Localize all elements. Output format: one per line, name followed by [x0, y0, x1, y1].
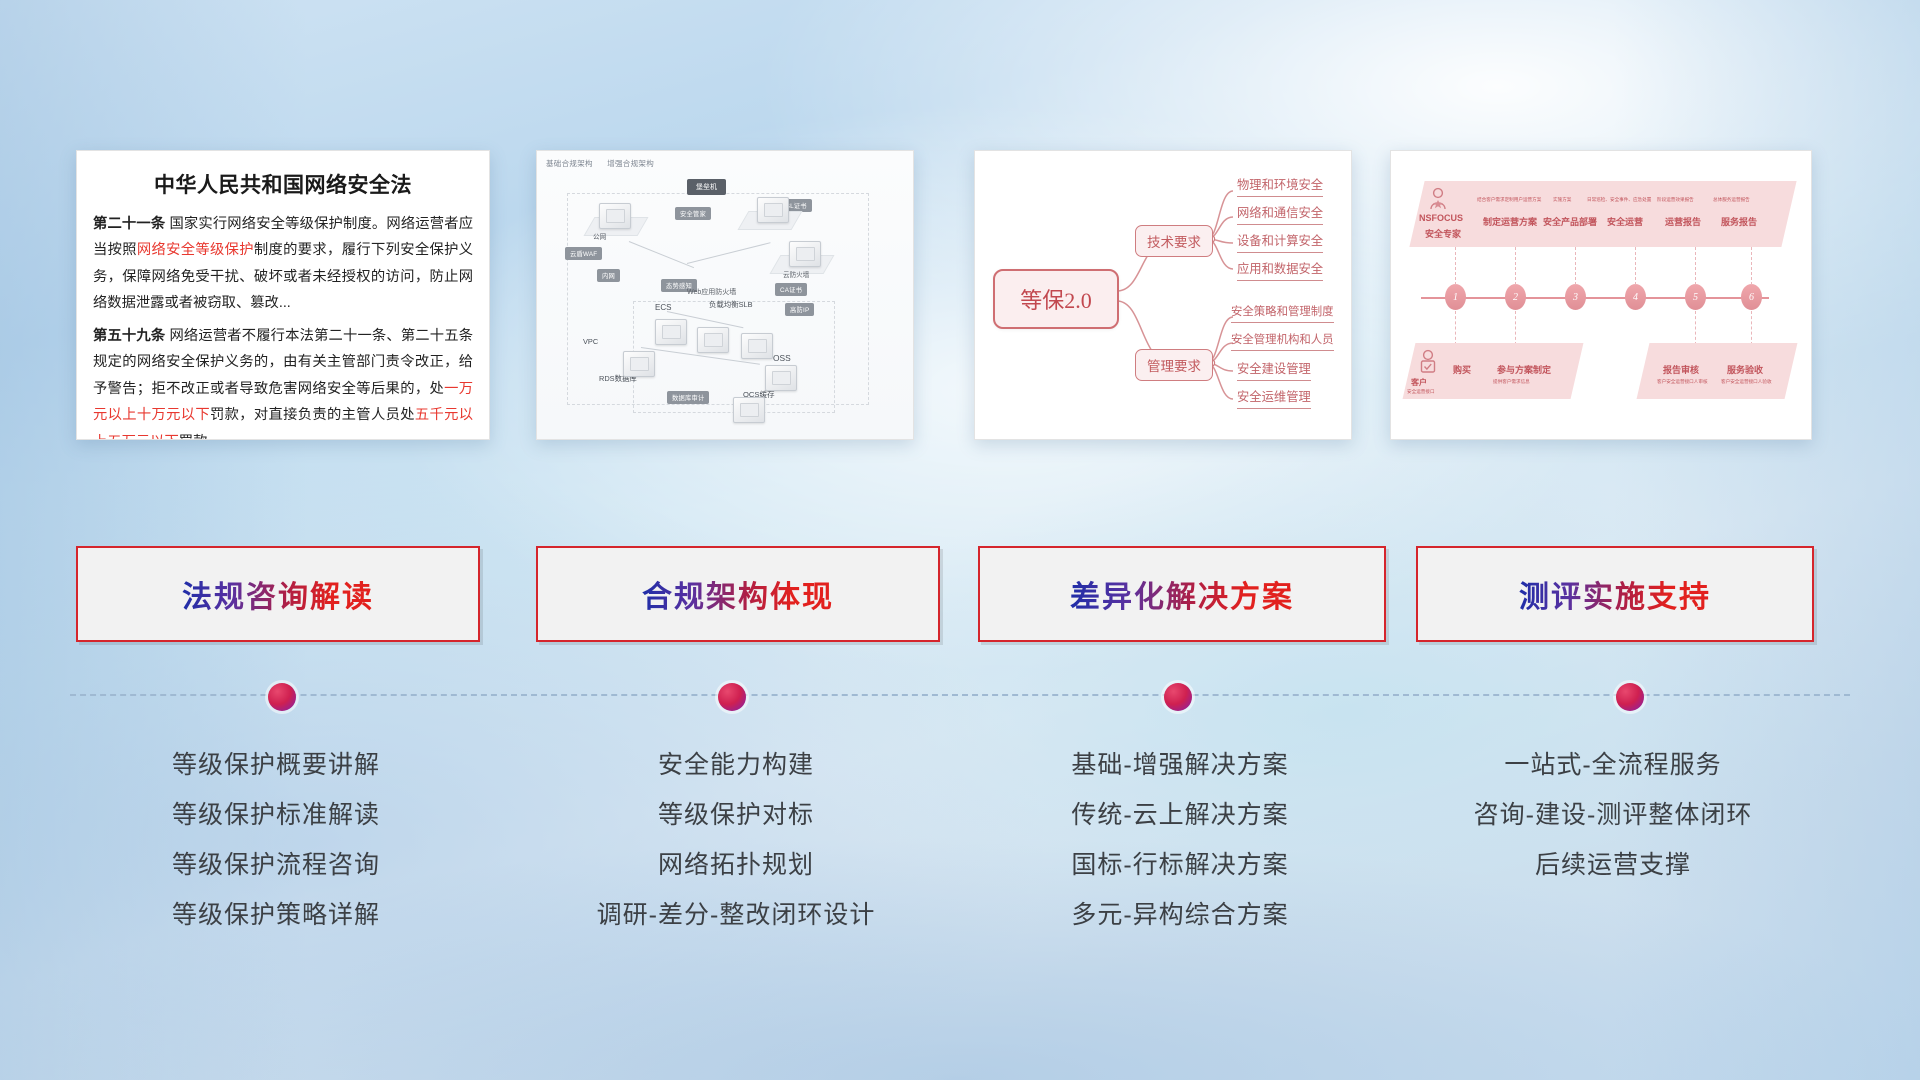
nsfocus-top-sub-3: 日常巡检、安全事件、应急处置 — [1587, 197, 1651, 203]
nsfocus-top-main-4: 运营报告 — [1665, 215, 1701, 228]
mindmap-leaf-physical: 物理和环境安全 — [1237, 175, 1323, 197]
list-item: 多元-异构综合方案 — [978, 890, 1382, 940]
headline-box-assessment-support[interactable]: 测评实施支持 — [1416, 546, 1814, 642]
list-item: 等级保护标准解读 — [76, 790, 476, 840]
nsfocus-expert-name: NSFOCUS — [1419, 213, 1463, 223]
headline-label-4: 测评实施支持 — [1519, 572, 1711, 616]
headline-box-compliance-architecture[interactable]: 合规架构体现 — [536, 546, 940, 642]
thumbnail-nsfocus-card[interactable]: NSFOCUS 安全专家 结合客户需求定制用户运营方案 制定运营方案 实施方案 … — [1390, 150, 1812, 440]
detail-list-4: 一站式-全流程服务 咨询-建设-测评整体闭环 后续运营支撑 — [1416, 740, 1810, 890]
list-item: 等级保护对标 — [536, 790, 936, 840]
detail-column-1: 等级保护概要讲解 等级保护标准解读 等级保护流程咨询 等级保护策略详解 — [76, 740, 476, 940]
mindmap-diagram: 等保2.0 技术要求 管理要求 物理和环境安全 网络和通信安全 设备和计算安全 … — [975, 151, 1351, 439]
nsfocus-customer-role: 客户 — [1411, 377, 1427, 388]
nsfocus-connector-1 — [1455, 247, 1457, 285]
law-paragraph-21: 第二十一条 国家实行网络安全等级保护制度。网络运营者应当按照网络安全等级保护制度… — [93, 211, 473, 317]
timeline-dot-3[interactable] — [1164, 683, 1192, 711]
nsfocus-step-number-6: 6 — [1741, 284, 1762, 310]
list-item: 等级保护流程咨询 — [76, 840, 476, 890]
arch-node-ecs-3 — [741, 333, 773, 359]
mindmap-leaf-application: 应用和数据安全 — [1237, 259, 1323, 281]
list-item: 基础-增强解决方案 — [978, 740, 1382, 790]
arch-node-cloud-firewall — [789, 241, 821, 267]
nsfocus-connector-b1 — [1455, 311, 1457, 345]
nsfocus-connector-5 — [1695, 247, 1697, 285]
timeline-dot-4[interactable] — [1616, 683, 1644, 711]
arch-label-ocs: VPC — [583, 337, 598, 346]
headline-box-regulation-consulting[interactable]: 法规咨询解读 — [76, 546, 480, 642]
headline-label-2: 合规架构体现 — [642, 572, 834, 616]
detail-column-3: 基础-增强解决方案 传统-云上解决方案 国标-行标解决方案 多元-异构综合方案 — [978, 740, 1382, 940]
arch-tag-enhanced: 增强合规架构 — [607, 159, 654, 168]
arch-block-bastion: 堡垒机 — [687, 179, 726, 195]
arch-node-ecs-2 — [697, 327, 729, 353]
detail-list-3: 基础-增强解决方案 传统-云上解决方案 国标-行标解决方案 多元-异构综合方案 — [978, 740, 1382, 940]
list-item: 咨询-建设-测评整体闭环 — [1416, 790, 1810, 840]
thumbnail-architecture-card[interactable]: 基础合规架构 增强合规架构 堡垒机 公网 安全管家 域名·SSL证书 云盾WAF… — [536, 150, 914, 440]
headline-label-1: 法规咨询解读 — [182, 572, 374, 616]
nsfocus-top-sub-5: 总体服务运营报告 — [1713, 197, 1750, 203]
thumbnail-row: 中华人民共和国网络安全法 第二十一条 国家实行网络安全等级保护制度。网络运营者应… — [0, 150, 1920, 442]
nsfocus-connector-6 — [1751, 247, 1753, 285]
nsfocus-bottom-main-2: 参与方案制定 — [1497, 363, 1551, 376]
mindmap-branch-technical: 技术要求 — [1135, 225, 1213, 257]
customer-person-icon — [1417, 349, 1439, 375]
list-item: 调研-差分-整改闭环设计 — [536, 890, 936, 940]
arch-node-rds — [623, 351, 655, 377]
architecture-diagram: 基础合规架构 增强合规架构 堡垒机 公网 安全管家 域名·SSL证书 云盾WAF… — [537, 151, 913, 439]
headline-label-3: 差异化解决方案 — [1070, 572, 1294, 616]
nsfocus-step-number-3: 3 — [1565, 284, 1586, 310]
arch-block-cloud-waf: 云盾WAF — [565, 247, 602, 260]
list-item: 等级保护策略详解 — [76, 890, 476, 940]
law-article-21-label: 第二十一条 — [93, 216, 165, 232]
arch-label-public-net: 公网 — [593, 231, 606, 241]
law-article-59-text-end: 罚款。 — [179, 434, 222, 441]
mindmap-root-node: 等保2.0 — [993, 269, 1119, 329]
arch-block-db-audit: 数据库审计 — [667, 391, 709, 404]
thumbnail-law-card[interactable]: 中华人民共和国网络安全法 第二十一条 国家实行网络安全等级保护制度。网络运营者应… — [76, 150, 490, 440]
nsfocus-bottom-sub-2: 提供客户需求信息 — [1493, 379, 1530, 385]
nsfocus-connector-2 — [1515, 247, 1517, 285]
mindmap-leaf-org: 安全管理机构和人员 — [1231, 331, 1334, 351]
nsfocus-connector-b3 — [1695, 311, 1697, 345]
nsfocus-bottom-main-1: 购买 — [1453, 363, 1471, 376]
nsfocus-top-main-2: 安全产品部署 — [1543, 215, 1597, 228]
mindmap-leaf-network: 网络和通信安全 — [1237, 203, 1323, 225]
nsfocus-top-sub-4: 阶段运营效果报告 — [1657, 197, 1694, 203]
list-item: 等级保护概要讲解 — [76, 740, 476, 790]
nsfocus-top-band — [1409, 181, 1796, 247]
timeline-axis — [70, 694, 1850, 698]
nsfocus-step-number-2: 2 — [1505, 284, 1526, 310]
arch-label-cloud-firewall: 云防火墙 — [783, 269, 809, 279]
law-document: 中华人民共和国网络安全法 第二十一条 国家实行网络安全等级保护制度。网络运营者应… — [77, 151, 489, 439]
nsfocus-bottom-sub-3: 客户安全运营接口人审核 — [1657, 379, 1708, 385]
nsfocus-top-main-1: 制定运营方案 — [1483, 215, 1537, 228]
mindmap-leaf-policy: 安全策略和管理制度 — [1231, 303, 1334, 323]
nsfocus-timeline-diagram: NSFOCUS 安全专家 结合客户需求定制用户运营方案 制定运营方案 实施方案 … — [1391, 151, 1811, 439]
law-article-59-label: 第五十九条 — [93, 328, 165, 344]
nsfocus-top-sub-2: 实施方案 — [1553, 197, 1571, 203]
detail-list-1: 等级保护概要讲解 等级保护标准解读 等级保护流程咨询 等级保护策略详解 — [76, 740, 476, 940]
thumbnail-mindmap-card[interactable]: 等保2.0 技术要求 管理要求 物理和环境安全 网络和通信安全 设备和计算安全 … — [974, 150, 1352, 440]
nsfocus-bottom-main-3: 报告审核 — [1663, 363, 1699, 376]
arch-node-oss — [765, 365, 797, 391]
nsfocus-axis-line — [1421, 297, 1769, 299]
architecture-tags: 基础合规架构 增强合规架构 — [546, 158, 666, 169]
nsfocus-bottom-main-4: 服务验收 — [1727, 363, 1763, 376]
list-item: 后续运营支撑 — [1416, 840, 1810, 890]
nsfocus-top-main-5: 服务报告 — [1721, 215, 1757, 228]
nsfocus-bottom-band-right — [1637, 343, 1798, 399]
list-item: 一站式-全流程服务 — [1416, 740, 1810, 790]
list-item: 安全能力构建 — [536, 740, 936, 790]
arch-block-ca: CA证书 — [775, 283, 807, 296]
headline-box-differentiated-solution[interactable]: 差异化解决方案 — [978, 546, 1386, 642]
timeline-dot-2[interactable] — [718, 683, 746, 711]
nsfocus-top-main-3: 安全运营 — [1607, 215, 1643, 228]
nsfocus-bottom-sub-4: 客户安全运营接口人验收 — [1721, 379, 1772, 385]
law-title: 中华人民共和国网络安全法 — [93, 169, 473, 199]
arch-node-ecs-1 — [655, 319, 687, 345]
law-article-21-highlight: 网络安全等级保护 — [137, 242, 254, 258]
detail-column-4: 一站式-全流程服务 咨询-建设-测评整体闭环 后续运营支撑 — [1416, 740, 1810, 890]
mindmap-leaf-device: 设备和计算安全 — [1237, 231, 1323, 253]
arch-label-web-waf: Web应用防火墙 — [687, 287, 736, 297]
nsfocus-step-number-1: 1 — [1445, 284, 1466, 310]
arch-tag-basic: 基础合规架构 — [546, 159, 593, 168]
list-item: 国标-行标解决方案 — [978, 840, 1382, 890]
arch-label-slb: 负载均衡SLB — [709, 299, 753, 310]
nsfocus-expert-role: 安全专家 — [1425, 227, 1461, 240]
arch-node-public-net — [599, 203, 631, 229]
list-item: 网络拓扑规划 — [536, 840, 936, 890]
arch-label-oss: OSS — [773, 353, 791, 363]
nsfocus-step-number-4: 4 — [1625, 284, 1646, 310]
expert-person-icon — [1427, 187, 1449, 211]
nsfocus-connector-4 — [1635, 247, 1637, 285]
nsfocus-top-sub-1: 结合客户需求定制用户运营方案 — [1477, 197, 1541, 203]
arch-block-security-butler: 安全管家 — [675, 207, 711, 220]
nsfocus-connector-3 — [1575, 247, 1577, 285]
detail-column-2: 安全能力构建 等级保护对标 网络拓扑规划 调研-差分-整改闭环设计 — [536, 740, 936, 940]
list-item: 传统-云上解决方案 — [978, 790, 1382, 840]
law-article-59-text-mid: 罚款，对直接负责的主管人员处 — [210, 407, 415, 423]
nsfocus-step-number-5: 5 — [1685, 284, 1706, 310]
arch-block-intranet: 内网 — [597, 269, 620, 282]
headline-row: 法规咨询解读 合规架构体现 差异化解决方案 测评实施支持 — [0, 546, 1920, 638]
detail-list-2: 安全能力构建 等级保护对标 网络拓扑规划 调研-差分-整改闭环设计 — [536, 740, 936, 940]
timeline-dot-1[interactable] — [268, 683, 296, 711]
mindmap-leaf-operation: 安全运维管理 — [1237, 387, 1311, 409]
nsfocus-connector-b4 — [1751, 311, 1753, 345]
arch-block-anti-ddos: 高防IP — [785, 303, 814, 316]
arch-node-situational — [757, 197, 789, 223]
mindmap-leaf-construction: 安全建设管理 — [1237, 359, 1311, 381]
nsfocus-connector-b2 — [1515, 311, 1517, 345]
law-paragraph-59: 第五十九条 网络运营者不履行本法第二十一条、第二十五条规定的网络安全保护义务的，… — [93, 323, 473, 440]
nsfocus-customer-sub: 安全运营接口 — [1407, 389, 1435, 395]
arch-node-vpc — [733, 397, 765, 423]
mindmap-branch-management: 管理要求 — [1135, 349, 1213, 381]
